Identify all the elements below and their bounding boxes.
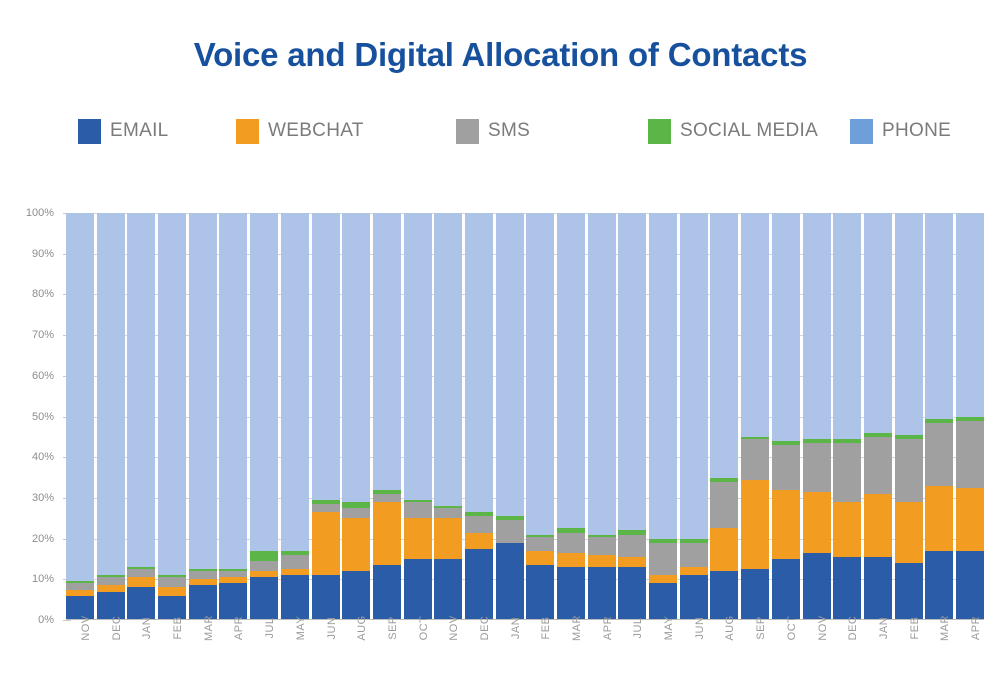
bar-segment-phone [803,213,831,439]
bar-segment-sms [588,537,616,555]
bar-segment-email [772,559,800,620]
bar-segment-email [434,559,462,620]
bar-segment-webchat [465,533,493,549]
x-tick-label: MAR [203,615,215,641]
x-tick-cell: AUG [342,626,370,684]
bar-segment-sms [342,508,370,518]
bar-segment-webchat [127,577,155,587]
bar-segment-webchat [741,480,769,570]
bar-segment-email [526,565,554,620]
x-tick-cell: JAN [864,626,892,684]
bar-segment-webchat [526,551,554,565]
bar-segment-phone [373,213,401,490]
bar-segment-sms [864,437,892,494]
x-tick-cell: NOV [803,626,831,684]
bar-segment-webchat [925,486,953,551]
bar-column[interactable] [373,213,401,620]
bar-segment-email [219,583,247,620]
x-tick-cell: OCT [772,626,800,684]
y-tick-label: 10% [6,573,54,585]
x-tick-label: APR [970,616,982,640]
x-tick-cell: SEP [741,626,769,684]
y-tick-mark [63,620,71,621]
x-tick-cell: MAY [649,626,677,684]
bar-segment-phone [66,213,94,581]
y-tick-label: 40% [6,451,54,463]
bar-segment-email [833,557,861,620]
plot-wrapper: 100%90%80%70%60%50%40%30%20%10%0% NOVDEC… [0,0,1001,684]
x-tick-cell: JUL [250,626,278,684]
bar-segment-email [680,575,708,620]
x-tick-cell: NOV [66,626,94,684]
y-tick-label: 50% [6,411,54,423]
x-tick-cell: APR [956,626,984,684]
bar-column[interactable] [496,213,524,620]
bar-segment-webchat [864,494,892,557]
bar-column[interactable] [833,213,861,620]
x-tick-cell: MAR [925,626,953,684]
bar-segment-sms [772,445,800,490]
bar-segment-email [557,567,585,620]
bar-segment-webchat [618,557,646,567]
bar-segment-sms [956,421,984,488]
bar-segment-sms [618,535,646,557]
x-tick-label: JUL [264,617,276,638]
x-tick-cell: JUN [312,626,340,684]
bar-column[interactable] [281,213,309,620]
bar-segment-sms [189,571,217,579]
bar-segment-email [710,571,738,620]
x-tick-label: OCT [418,616,430,641]
bar-column[interactable] [434,213,462,620]
x-tick-label: APR [233,616,245,640]
bar-column[interactable] [864,213,892,620]
bar-segment-sms [465,516,493,532]
bar-segment-webchat [895,502,923,563]
bar-segment-social-media [250,551,278,561]
x-tick-cell: SEP [373,626,401,684]
bar-segment-webchat [434,518,462,559]
x-tick-label: JUN [694,617,706,640]
bar-column[interactable] [557,213,585,620]
x-tick-label: AUG [356,615,368,640]
bar-segment-sms [312,504,340,512]
x-tick-cell: AUG [710,626,738,684]
x-tick-cell: JAN [496,626,524,684]
y-tick-label: 80% [6,288,54,300]
x-tick-label: JAN [141,617,153,639]
x-tick-cell: MAY [281,626,309,684]
x-tick-cell: DEC [97,626,125,684]
bar-segment-email [895,563,923,620]
x-tick-label: MAY [295,616,307,641]
bar-column[interactable] [772,213,800,620]
bar-segment-sms [373,494,401,502]
bar-segment-email [496,543,524,620]
x-tick-label: MAY [663,616,675,641]
bar-segment-webchat [557,553,585,567]
bar-segment-phone [526,213,554,535]
bar-segment-webchat [373,502,401,565]
bar-segment-sms [526,537,554,551]
y-tick-label: 100% [6,207,54,219]
bar-segment-phone [342,213,370,502]
x-tick-label: JUN [326,617,338,640]
bar-segment-sms [895,439,923,502]
bar-segment-phone [710,213,738,478]
bar-segment-phone [465,213,493,512]
x-tick-cell: JUN [680,626,708,684]
bar-segment-email [465,549,493,620]
bar-segment-phone [833,213,861,439]
x-axis: NOVDECJANFEBMARAPRJULMAYJUNAUGSEPOCTNOVD… [66,626,984,684]
bar-segment-phone [158,213,186,575]
bar-segment-email [342,571,370,620]
bar-segment-phone [97,213,125,575]
x-tick-cell: JUL [618,626,646,684]
bar-segment-sms [741,439,769,480]
x-tick-cell: DEC [833,626,861,684]
x-tick-label: SEP [387,616,399,640]
x-tick-label: NOV [448,615,460,640]
x-tick-label: DEC [479,616,491,641]
bar-segment-phone [250,213,278,551]
bar-segment-email [925,551,953,620]
x-tick-cell: FEB [895,626,923,684]
bar-column[interactable] [158,213,186,620]
x-tick-cell: DEC [465,626,493,684]
x-tick-cell: MAR [189,626,217,684]
x-tick-cell: JAN [127,626,155,684]
bar-column[interactable] [710,213,738,620]
bar-segment-webchat [312,512,340,575]
bar-column[interactable] [680,213,708,620]
x-tick-label: NOV [80,615,92,640]
bar-column[interactable] [66,213,94,620]
bar-segment-sms [281,555,309,569]
bar-column[interactable] [404,213,432,620]
bar-segment-webchat [404,518,432,559]
bar-segment-webchat [803,492,831,553]
bar-segment-email [250,577,278,620]
bar-segment-phone [956,213,984,417]
y-tick-label: 90% [6,248,54,260]
bar-segment-webchat [680,567,708,575]
x-tick-label: NOV [817,615,829,640]
bar-segment-webchat [342,518,370,571]
bar-segment-email [588,567,616,620]
bar-segment-phone [895,213,923,435]
bar-segment-sms [925,423,953,486]
chart-page: Voice and Digital Allocation of Contacts… [0,0,1001,684]
x-tick-cell: FEB [158,626,186,684]
x-tick-label: JAN [510,617,522,639]
bar-segment-sms [97,577,125,585]
bar-segment-phone [741,213,769,437]
bar-column[interactable] [127,213,155,620]
x-tick-label: OCT [786,616,798,641]
bar-segment-webchat [772,490,800,559]
bar-segment-email [312,575,340,620]
bar-segment-sms [680,543,708,567]
bar-segment-phone [312,213,340,500]
bar-column[interactable] [649,213,677,620]
y-tick-label: 0% [6,614,54,626]
bar-segment-phone [925,213,953,419]
bar-segment-sms [127,569,155,577]
x-tick-label: APR [602,616,614,640]
bar-segment-email [404,559,432,620]
x-tick-label: MAR [571,615,583,641]
bar-column[interactable] [97,213,125,620]
bar-segment-email [127,587,155,620]
bar-segment-phone [618,213,646,530]
bar-segment-email [741,569,769,620]
bar-segment-sms [833,443,861,502]
bar-segment-webchat [710,528,738,571]
bar-segment-webchat [158,587,186,595]
bar-column[interactable] [219,213,247,620]
bar-segment-phone [864,213,892,433]
x-tick-cell: MAR [557,626,585,684]
y-axis: 100%90%80%70%60%50%40%30%20%10%0% [6,205,54,621]
bar-column[interactable] [588,213,616,620]
bar-segment-sms [404,502,432,518]
x-tick-label: FEB [172,617,184,640]
bar-column[interactable] [189,213,217,620]
y-tick-label: 20% [6,533,54,545]
bar-segment-sms [250,561,278,571]
bar-segment-phone [404,213,432,500]
x-tick-label: AUG [724,615,736,640]
bar-segment-phone [281,213,309,551]
x-tick-label: SEP [755,616,767,640]
bar-segment-phone [434,213,462,506]
bar-segment-phone [127,213,155,567]
x-tick-label: JAN [878,617,890,639]
y-tick-label: 30% [6,492,54,504]
bar-group [66,213,984,620]
y-tick-label: 70% [6,329,54,341]
x-tick-label: DEC [111,616,123,641]
bar-column[interactable] [803,213,831,620]
x-tick-cell: FEB [526,626,554,684]
y-tick-label: 60% [6,370,54,382]
bar-segment-email [618,567,646,620]
bar-segment-sms [710,482,738,529]
x-tick-label: FEB [540,617,552,640]
bar-segment-sms [158,577,186,587]
x-tick-cell: NOV [434,626,462,684]
bar-segment-email [281,575,309,620]
bar-segment-email [956,551,984,620]
bar-column[interactable] [895,213,923,620]
bar-column[interactable] [342,213,370,620]
bar-segment-phone [588,213,616,535]
bar-segment-phone [496,213,524,516]
x-tick-cell: OCT [404,626,432,684]
bar-segment-sms [434,508,462,518]
bar-segment-phone [189,213,217,569]
plot-area [66,213,984,620]
bar-column[interactable] [618,213,646,620]
bar-segment-email [373,565,401,620]
bar-segment-webchat [649,575,677,583]
bar-column[interactable] [956,213,984,620]
bar-column[interactable] [250,213,278,620]
x-tick-label: DEC [847,616,859,641]
bar-column[interactable] [526,213,554,620]
bar-segment-sms [557,533,585,553]
bar-segment-phone [772,213,800,441]
bar-column[interactable] [465,213,493,620]
bar-segment-email [803,553,831,620]
bar-segment-sms [496,520,524,542]
x-tick-label: FEB [909,617,921,640]
bar-segment-webchat [833,502,861,557]
bar-segment-webchat [588,555,616,567]
x-tick-cell: APR [219,626,247,684]
bar-segment-phone [219,213,247,569]
bar-column[interactable] [312,213,340,620]
x-tick-cell: APR [588,626,616,684]
bar-segment-sms [649,543,677,576]
bar-column[interactable] [925,213,953,620]
bar-segment-sms [803,443,831,492]
bar-segment-webchat [956,488,984,551]
bar-segment-phone [680,213,708,539]
bar-segment-email [864,557,892,620]
bar-column[interactable] [741,213,769,620]
bar-segment-phone [557,213,585,528]
x-tick-label: MAR [939,615,951,641]
x-tick-label: JUL [632,617,644,638]
bar-segment-phone [649,213,677,539]
